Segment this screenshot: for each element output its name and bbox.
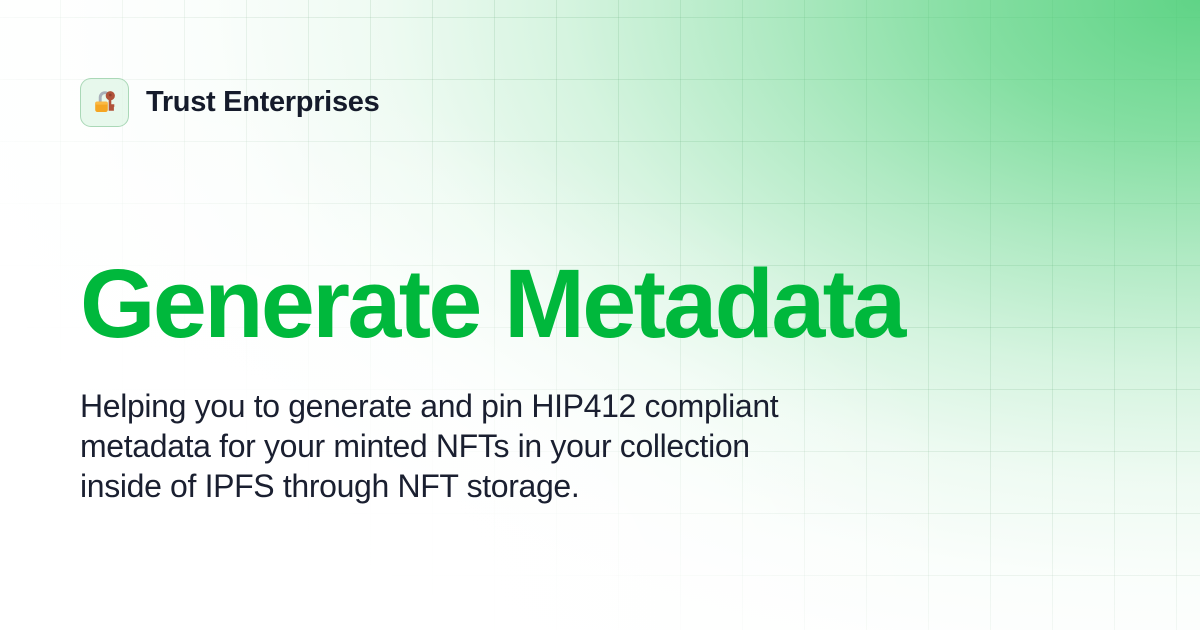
card-content: Trust Enterprises Generate Metadata Help… [0, 0, 1200, 630]
unlocked-padlock-with-key-icon [89, 86, 121, 118]
og-share-card: Trust Enterprises Generate Metadata Help… [0, 0, 1200, 630]
brand-lockup: Trust Enterprises [80, 74, 1120, 130]
brand-name: Trust Enterprises [146, 86, 379, 119]
brand-logo-badge [80, 78, 129, 127]
page-title: Generate Metadata [80, 255, 904, 354]
page-description: Helping you to generate and pin HIP412 c… [80, 386, 810, 506]
